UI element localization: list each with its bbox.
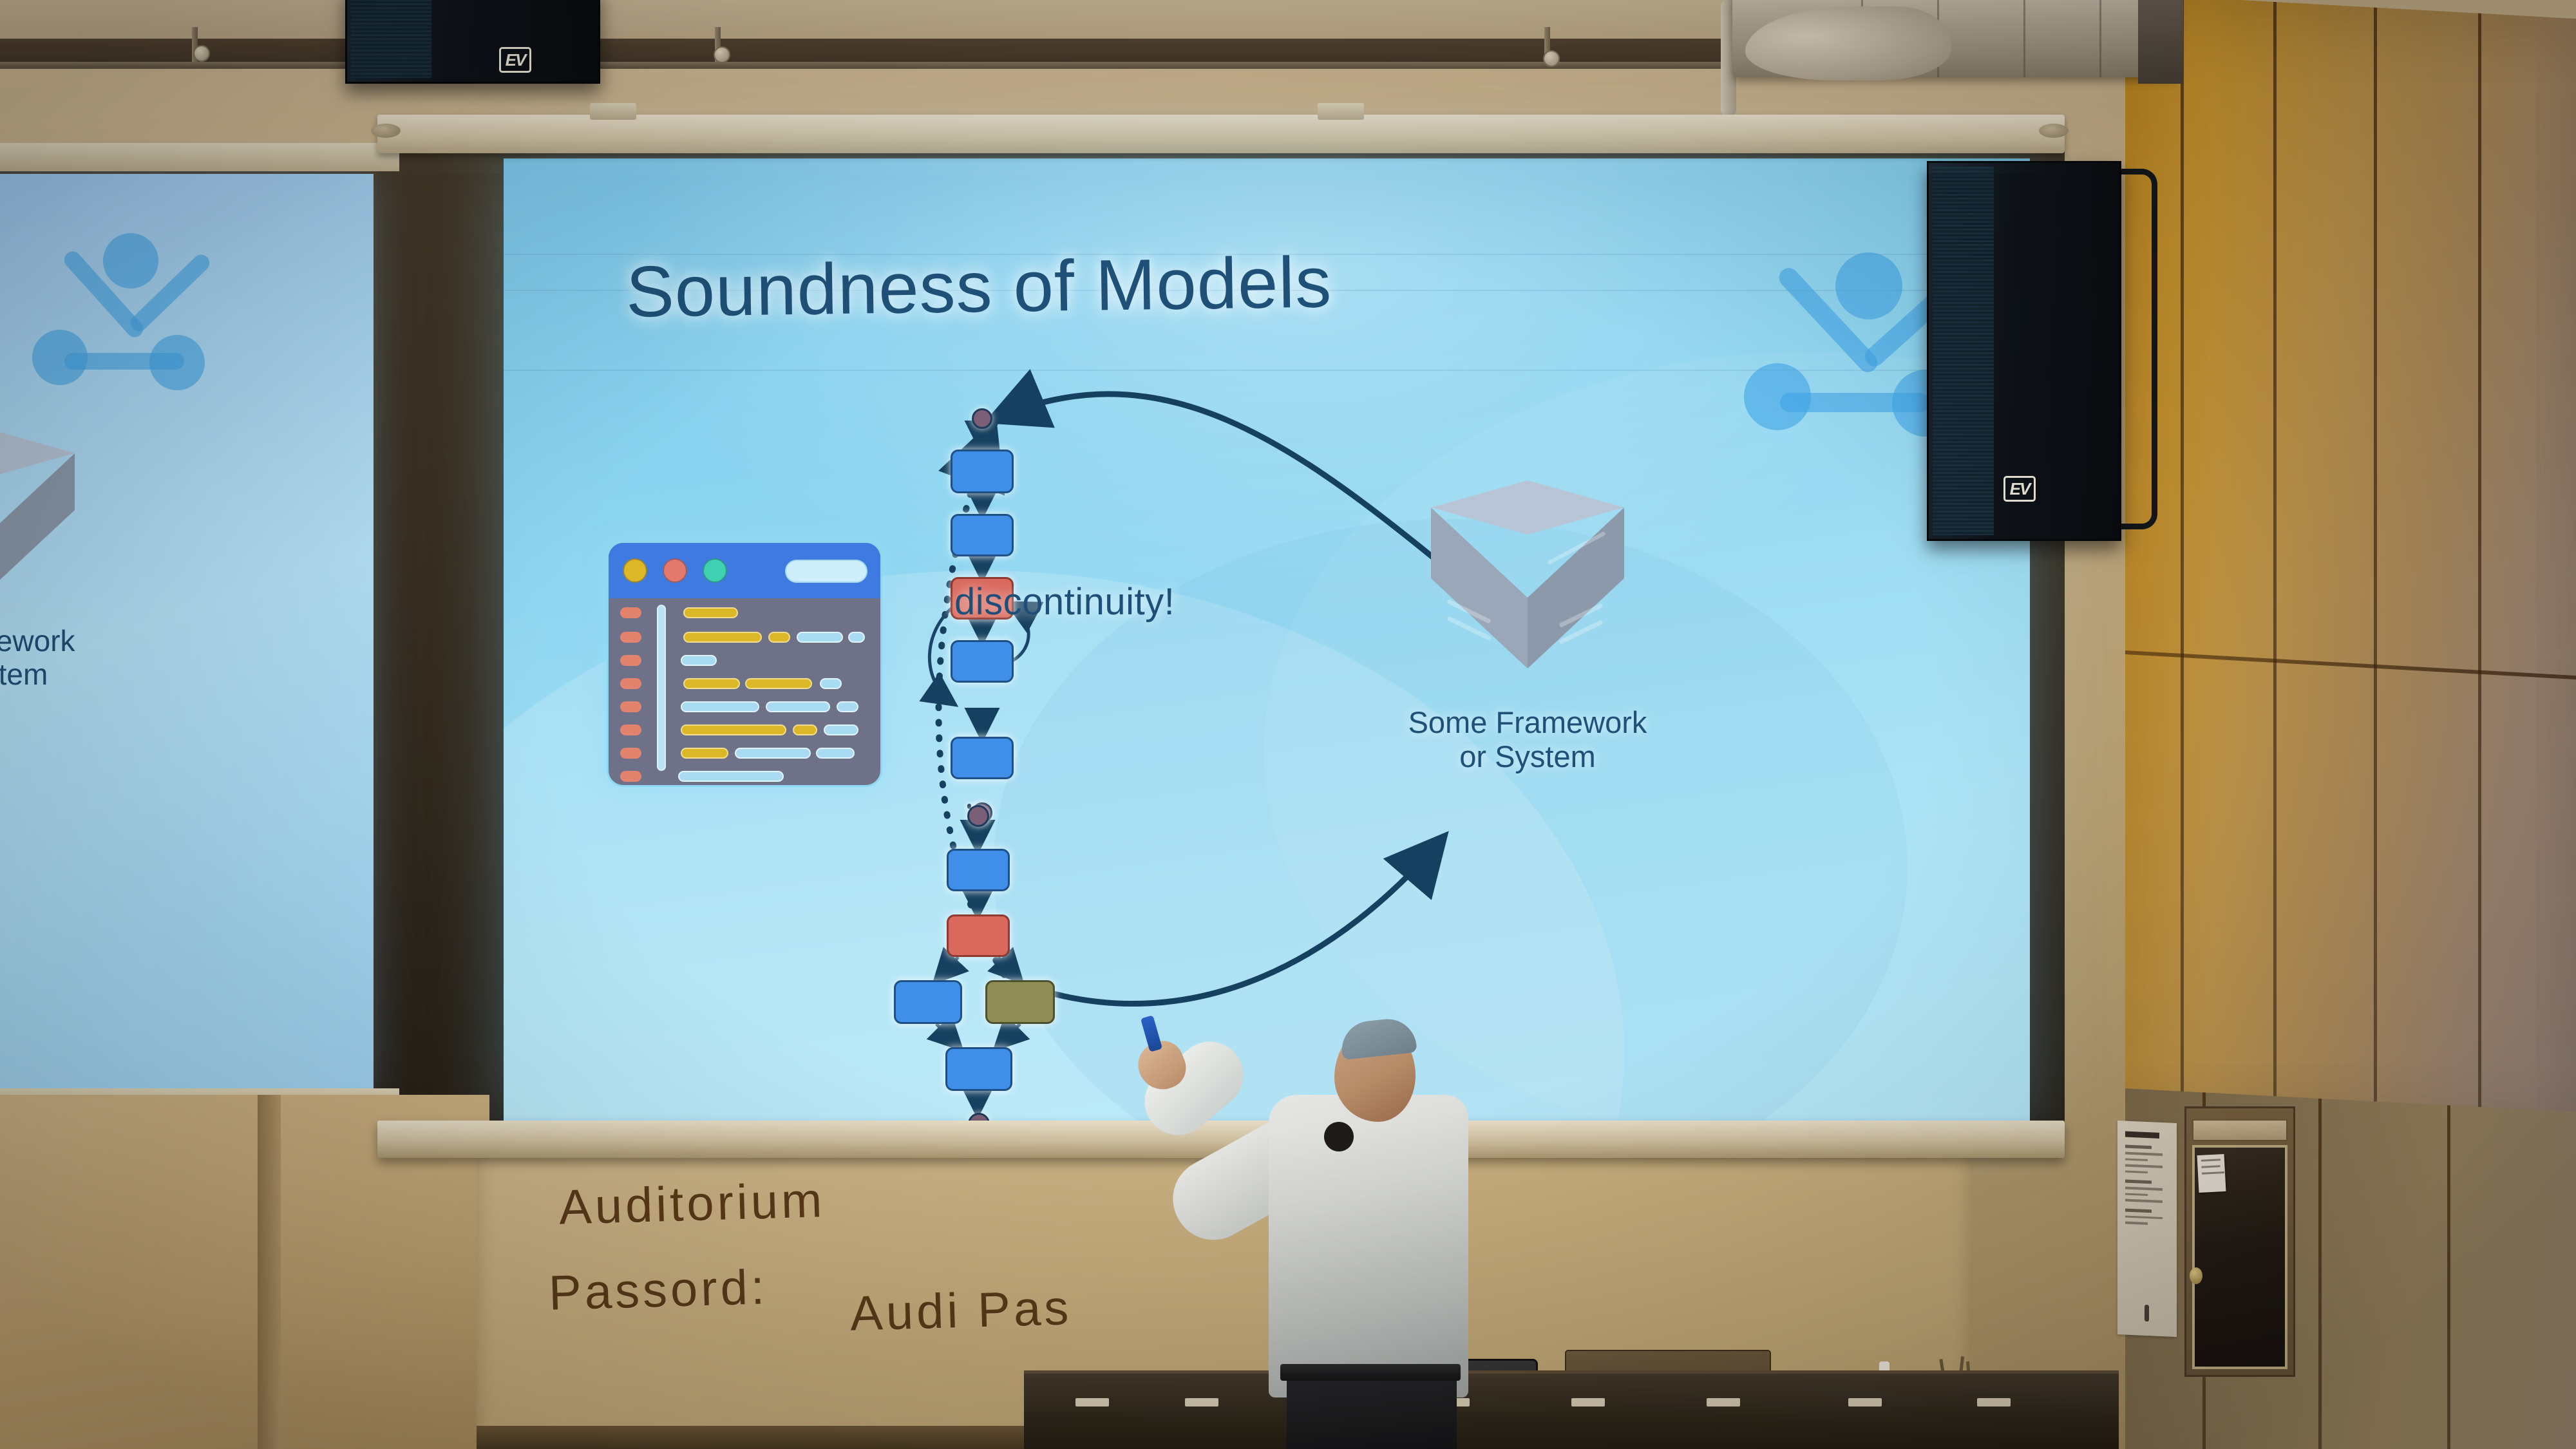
framework-label-line1: mework <box>0 625 133 658</box>
flow2-merge-node <box>945 1047 1012 1091</box>
left-screen-rail <box>0 143 399 171</box>
main-projection-screen: Soundness of Models <box>504 158 2030 1124</box>
ceiling-speaker-left: EV <box>345 0 600 84</box>
speaker-grille <box>1933 167 1994 535</box>
wall-information-plaque <box>2117 1121 2177 1337</box>
framework-label-line2: or System <box>1328 740 1727 774</box>
framework-label-line1: Some Framework <box>1328 706 1727 740</box>
speaker-grille <box>351 0 431 78</box>
flow-process-node <box>951 640 1014 683</box>
door-notice-sheet <box>2197 1154 2226 1193</box>
left-screen-cube-icon <box>0 431 75 592</box>
network-graph-watermark-icon <box>36 238 204 380</box>
presenter-legs <box>1287 1377 1457 1449</box>
discontinuity-label: discontinuity! <box>954 580 1175 623</box>
ev-logo-icon: EV <box>499 47 531 73</box>
edge-system-to-cube <box>1037 840 1441 1004</box>
main-screen-rail <box>377 115 2065 153</box>
hvac-duct-cap <box>2138 0 2183 84</box>
whiteboard-line-1: Auditorium <box>558 1172 826 1236</box>
lecture-hall-scene: EV EV mework tem <box>0 0 2576 1449</box>
sprinkler-head <box>1543 50 1560 67</box>
flow-process-node <box>951 737 1014 779</box>
flow2-decision-node <box>947 914 1010 957</box>
flow2-process-node <box>947 849 1010 891</box>
door-transom <box>2192 1119 2287 1141</box>
flow2-branch-right-node <box>985 980 1055 1024</box>
flow2-start-node <box>967 805 989 827</box>
flow2-branch-left-node <box>894 980 962 1024</box>
framework-cube-icon <box>1431 480 1624 687</box>
diagram-edges <box>504 158 2030 1124</box>
ceiling-speaker-right: EV <box>1927 161 2121 541</box>
sprinkler-head <box>193 45 210 62</box>
edge-discontinuity-dotted <box>939 429 1012 988</box>
sprinkler-head <box>714 46 730 63</box>
framework-label-line2: tem <box>0 658 133 692</box>
ev-logo-icon: EV <box>2003 476 2036 502</box>
door-handle[interactable] <box>2190 1267 2202 1284</box>
plaque-title-bar <box>2125 1132 2159 1139</box>
presenter-headset-mic <box>1324 1122 1354 1151</box>
wall-post <box>258 1095 281 1449</box>
edge-cube-to-model-start <box>994 394 1441 564</box>
flow-process-node <box>951 514 1014 556</box>
presenter-torso <box>1269 1095 1468 1397</box>
whiteboard-line-3: Audi Pas <box>849 1280 1072 1342</box>
flow-process-node <box>951 450 1014 493</box>
framework-label: Some Framework or System <box>1328 706 1727 773</box>
plaque-card-slot <box>2145 1305 2149 1321</box>
left-projection-screen: mework tem <box>0 174 374 1095</box>
podium-desk <box>1024 1370 2119 1449</box>
ceiling-conduit <box>0 62 1739 69</box>
left-screen-framework-label: mework tem <box>0 625 133 691</box>
presenter-belt <box>1280 1364 1461 1381</box>
wood-panel-wall <box>2125 0 2576 1153</box>
whiteboard-line-2: Passord: <box>548 1259 768 1321</box>
flow-start-node <box>972 408 992 429</box>
